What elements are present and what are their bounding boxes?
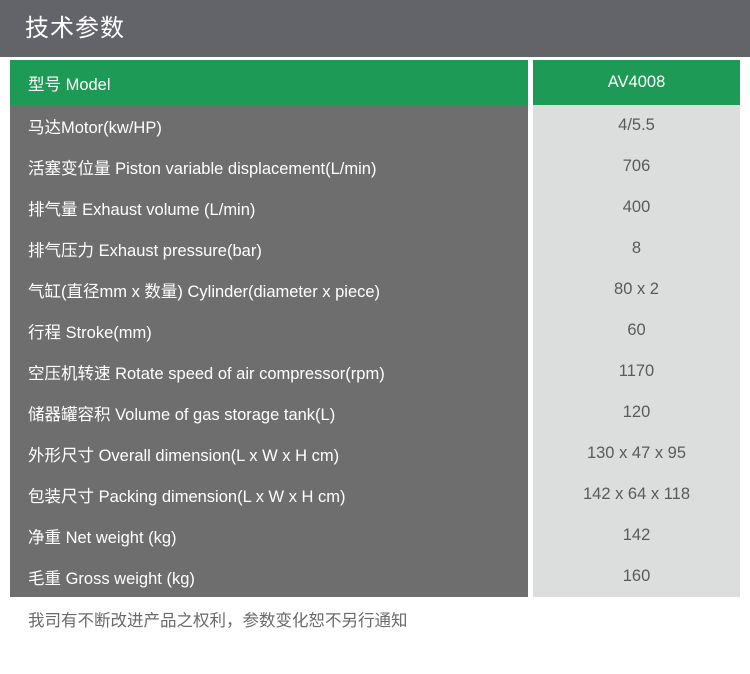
table-row: 储器罐容积 Volume of gas storage tank(L) 120 <box>10 392 740 433</box>
table-row: 马达Motor(kw/HP) 4/5.5 <box>10 105 740 146</box>
table-row: 净重 Net weight (kg) 142 <box>10 515 740 556</box>
row-value: 80 x 2 <box>533 269 740 310</box>
table-row: 行程 Stroke(mm) 60 <box>10 310 740 351</box>
title-bar: 技术参数 <box>0 0 750 57</box>
table-row: 包装尺寸 Packing dimension(L x W x H cm) 142… <box>10 474 740 515</box>
row-value: 160 <box>533 556 740 597</box>
footer-disclaimer: 我司有不断改进产品之权利，参数变化恕不另行通知 <box>28 612 408 632</box>
table-row: 活塞变位量 Piston variable displacement(L/min… <box>10 146 740 187</box>
row-label: 排气量 Exhaust volume (L/min) <box>10 187 528 228</box>
row-label: 外形尺寸 Overall dimension(L x W x H cm) <box>10 433 528 474</box>
row-value: 8 <box>533 228 740 269</box>
row-value: 400 <box>533 187 740 228</box>
table-row: 气缸(直径mm x 数量) Cylinder(diameter x piece)… <box>10 269 740 310</box>
row-value: 4/5.5 <box>533 105 740 146</box>
spec-sheet: 技术参数 型号 Model AV4008 马达Motor(kw/HP) 4/5.… <box>0 0 750 674</box>
table-row: 排气量 Exhaust volume (L/min) 400 <box>10 187 740 228</box>
row-label: 储器罐容积 Volume of gas storage tank(L) <box>10 392 528 433</box>
row-label: 空压机转速 Rotate speed of air compressor(rpm… <box>10 351 528 392</box>
row-value: 1170 <box>533 351 740 392</box>
table-header-label: 型号 Model <box>10 60 528 105</box>
table-body: 型号 Model AV4008 马达Motor(kw/HP) 4/5.5 活塞变… <box>10 60 740 597</box>
table-header-row: 型号 Model AV4008 <box>10 60 740 105</box>
table-header-value: AV4008 <box>533 60 740 105</box>
row-label: 净重 Net weight (kg) <box>10 515 528 556</box>
row-value: 60 <box>533 310 740 351</box>
table-row: 外形尺寸 Overall dimension(L x W x H cm) 130… <box>10 433 740 474</box>
page-title: 技术参数 <box>25 17 125 41</box>
row-label: 气缸(直径mm x 数量) Cylinder(diameter x piece) <box>10 269 528 310</box>
specifications-table: 型号 Model AV4008 马达Motor(kw/HP) 4/5.5 活塞变… <box>10 60 740 597</box>
row-label: 毛重 Gross weight (kg) <box>10 556 528 597</box>
row-value: 142 <box>533 515 740 556</box>
row-label: 活塞变位量 Piston variable displacement(L/min… <box>10 146 528 187</box>
table-row: 毛重 Gross weight (kg) 160 <box>10 556 740 597</box>
row-value: 706 <box>533 146 740 187</box>
row-label: 行程 Stroke(mm) <box>10 310 528 351</box>
row-value: 142 x 64 x 118 <box>533 474 740 515</box>
row-label: 马达Motor(kw/HP) <box>10 105 528 146</box>
table-row: 排气压力 Exhaust pressure(bar) 8 <box>10 228 740 269</box>
table-row: 空压机转速 Rotate speed of air compressor(rpm… <box>10 351 740 392</box>
row-label: 排气压力 Exhaust pressure(bar) <box>10 228 528 269</box>
row-value: 120 <box>533 392 740 433</box>
row-value: 130 x 47 x 95 <box>533 433 740 474</box>
row-label: 包装尺寸 Packing dimension(L x W x H cm) <box>10 474 528 515</box>
